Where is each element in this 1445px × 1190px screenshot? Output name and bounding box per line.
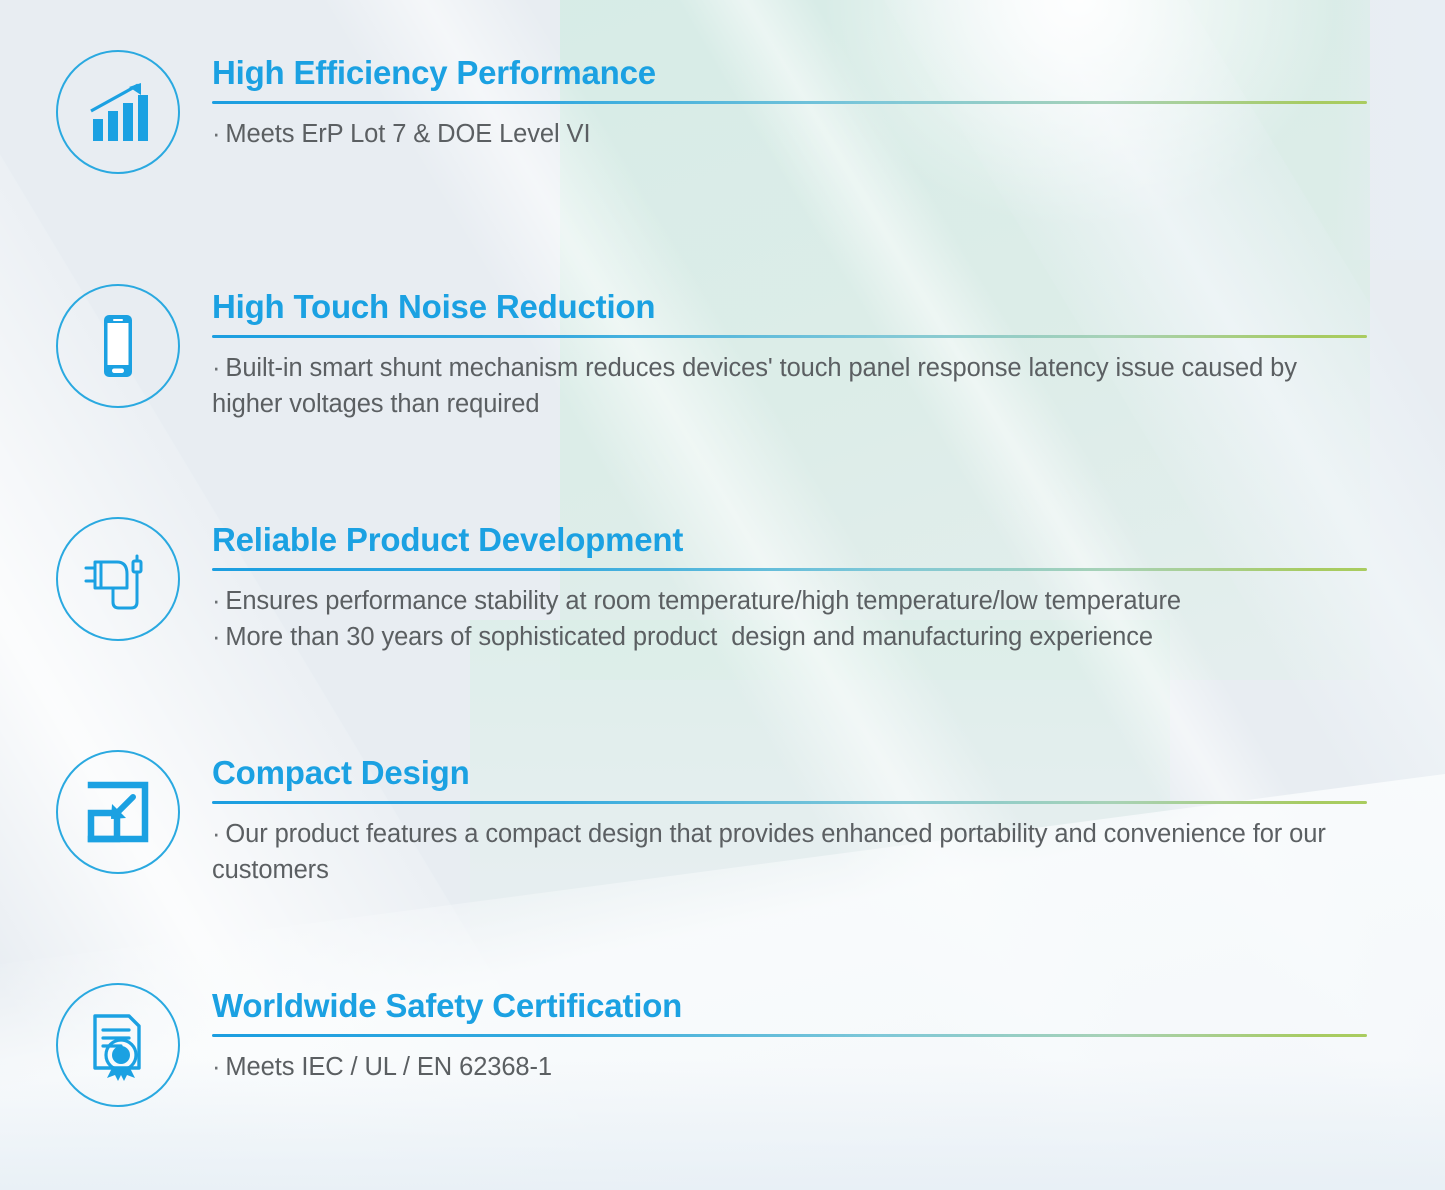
feature-divider [212,568,1367,571]
power-adapter-icon [56,517,180,641]
feature-text-block: High Touch Noise Reduction ·Built-in sma… [212,288,1367,422]
feature-bullet-text: Built-in smart shunt mechanism reduces d… [212,354,1304,418]
feature-icon-wrap [56,284,180,408]
feature-bullet-list: ·Meets IEC / UL / EN 62368-1 [212,1049,1367,1085]
feature-text-block: Reliable Product Development ·Ensures pe… [212,521,1367,655]
smartphone-icon [56,284,180,408]
feature-bullet-list: ·Built-in smart shunt mechanism reduces … [212,350,1367,422]
feature-text-block: High Efficiency Performance ·Meets ErP L… [212,54,1367,152]
feature-divider [212,1034,1367,1037]
feature-bullet-list: ·Our product features a compact design t… [212,816,1367,888]
feature-icon-wrap [56,50,180,174]
feature-title: Compact Design [212,754,1367,792]
feature-bullet: ·Meets IEC / UL / EN 62368-1 [212,1049,1367,1085]
bullet-marker: · [212,354,220,382]
feature-icon-wrap [56,517,180,641]
feature-title: High Touch Noise Reduction [212,288,1367,326]
feature-bullet: ·Meets ErP Lot 7 & DOE Level VI [212,116,1367,152]
compact-resize-icon [56,750,180,874]
feature-divider [212,335,1367,338]
feature-bullet: ·Ensures performance stability at room t… [212,583,1367,619]
feature-bullet-text: More than 30 years of sophisticated prod… [225,623,1153,651]
feature-bullet-list: ·Meets ErP Lot 7 & DOE Level VI [212,116,1367,152]
feature-divider [212,101,1367,104]
feature-text-block: Compact Design ·Our product features a c… [212,754,1367,888]
feature-bullet-list: ·Ensures performance stability at room t… [212,583,1367,655]
feature-bullet: ·Built-in smart shunt mechanism reduces … [212,350,1367,422]
certificate-award-icon [56,983,180,1107]
feature-bullet-text: Ensures performance stability at room te… [225,587,1181,615]
bullet-marker: · [212,1053,220,1081]
bullet-marker: · [212,587,220,615]
feature-bullet-text: Our product features a compact design th… [212,820,1333,884]
bar-chart-growth-icon [56,50,180,174]
feature-bullet: ·More than 30 years of sophisticated pro… [212,619,1367,655]
feature-icon-wrap [56,983,180,1107]
feature-bullet-text: Meets IEC / UL / EN 62368-1 [225,1053,552,1081]
feature-divider [212,801,1367,804]
feature-title: High Efficiency Performance [212,54,1367,92]
feature-text-block: Worldwide Safety Certification ·Meets IE… [212,987,1367,1085]
bullet-marker: · [212,120,220,148]
feature-bullet: ·Our product features a compact design t… [212,816,1367,888]
feature-highlights-page: High Efficiency Performance ·Meets ErP L… [0,0,1445,1190]
feature-title: Worldwide Safety Certification [212,987,1367,1025]
feature-title: Reliable Product Development [212,521,1367,559]
bullet-marker: · [212,820,220,848]
feature-icon-wrap [56,750,180,874]
bullet-marker: · [212,623,220,651]
feature-bullet-text: Meets ErP Lot 7 & DOE Level VI [225,120,590,148]
